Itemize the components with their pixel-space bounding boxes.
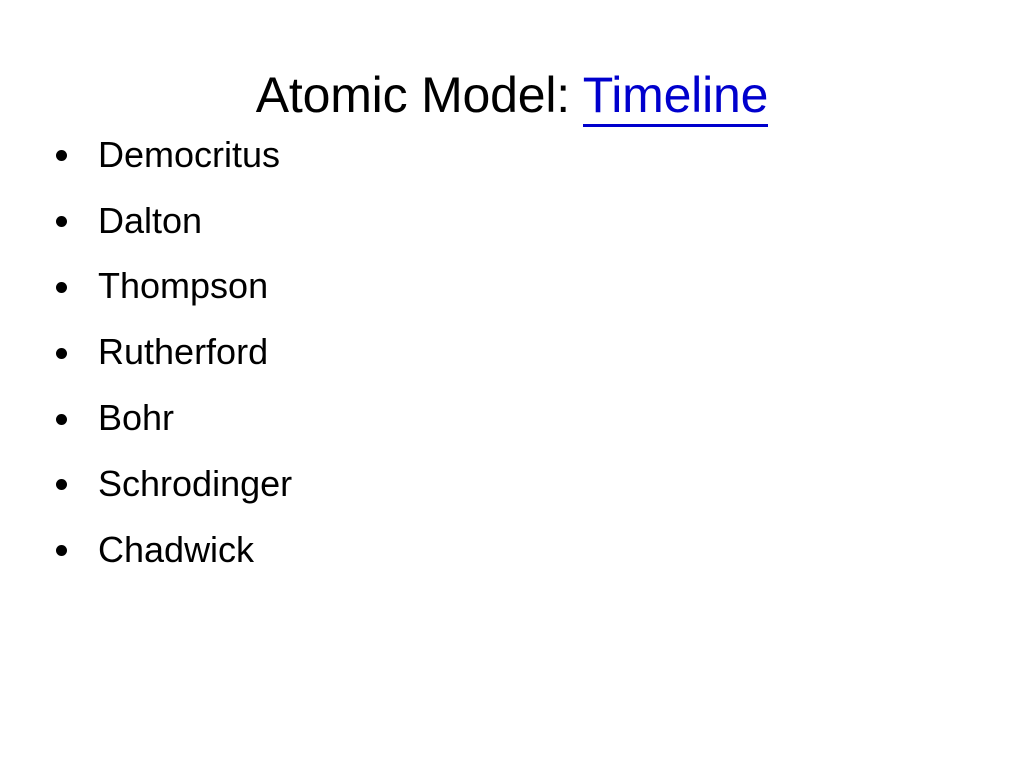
list-item: Chadwick — [56, 517, 816, 583]
list-item: Rutherford — [56, 319, 816, 385]
list-item-label: Chadwick — [98, 528, 254, 572]
list-item-label: Democritus — [98, 133, 280, 177]
page-title-static-text: Atomic Model: — [256, 67, 583, 123]
bullet-point-icon — [56, 479, 67, 490]
list-item-label: Schrodinger — [98, 462, 292, 506]
bullet-point-icon — [56, 150, 67, 161]
list-item-label: Thompson — [98, 264, 268, 308]
bullet-point-icon — [56, 216, 67, 227]
list-item-label: Bohr — [98, 396, 174, 440]
bullet-point-icon — [56, 348, 67, 359]
list-item-label: Dalton — [98, 199, 202, 243]
atomic-model-scientist-list: Democritus Dalton Thompson Rutherford Bo… — [56, 122, 816, 583]
bullet-point-icon — [56, 545, 67, 556]
list-item-label: Rutherford — [98, 330, 268, 374]
bullet-point-icon — [56, 414, 67, 425]
presentation-slide: Atomic Model: Timeline Democritus Dalton… — [0, 0, 1024, 768]
page-title: Atomic Model: Timeline — [0, 66, 1024, 124]
bullet-point-icon — [56, 282, 67, 293]
list-item: Schrodinger — [56, 451, 816, 517]
timeline-hyperlink[interactable]: Timeline — [583, 67, 769, 127]
list-item: Dalton — [56, 188, 816, 254]
list-item: Thompson — [56, 254, 816, 320]
list-item: Democritus — [56, 122, 816, 188]
list-item: Bohr — [56, 385, 816, 451]
